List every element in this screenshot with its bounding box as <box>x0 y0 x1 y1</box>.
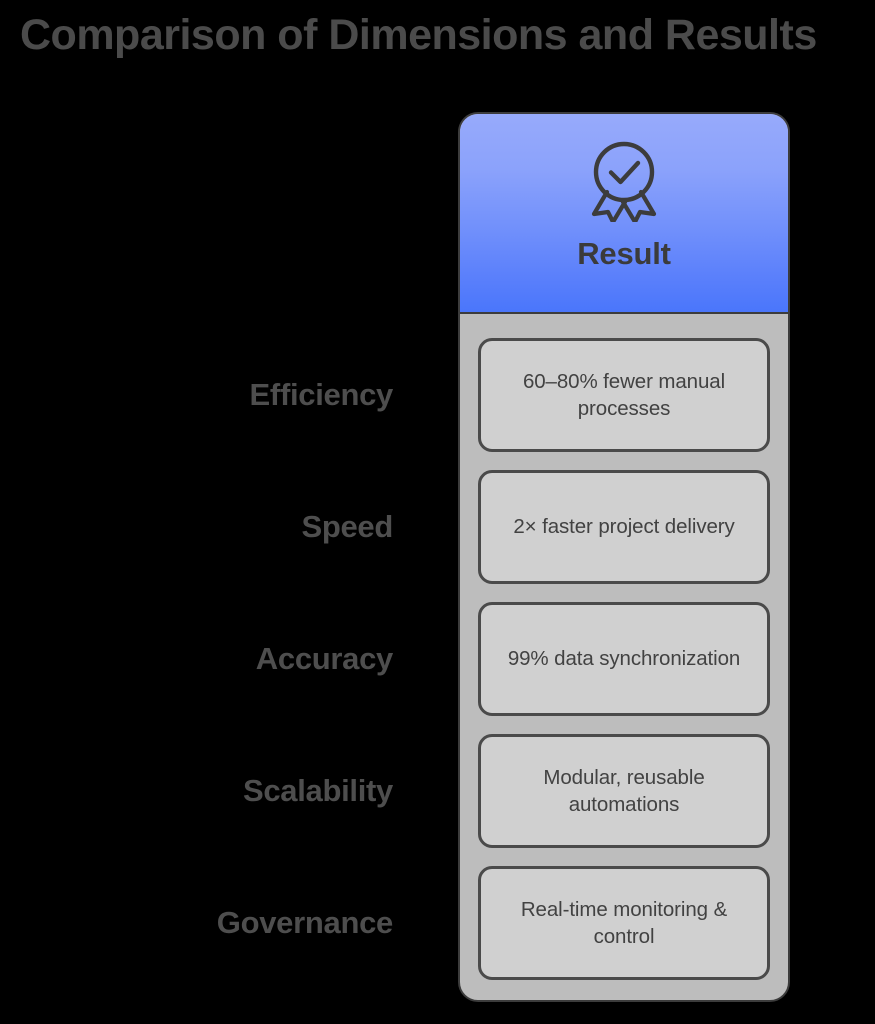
result-card-speed: 2× faster project delivery <box>478 470 770 584</box>
dimension-label-efficiency: Efficiency <box>3 377 393 413</box>
result-panel: Result 60–80% fewer manual processes 2× … <box>458 112 790 1002</box>
dimension-label-scalability: Scalability <box>3 773 393 809</box>
result-card-accuracy: 99% data synchronization <box>478 602 770 716</box>
result-card-scalability: Modular, reusable automations <box>478 734 770 848</box>
page-title: Comparison of Dimensions and Results <box>20 12 865 59</box>
dimension-label-speed: Speed <box>3 509 393 545</box>
dimension-label-governance: Governance <box>3 905 393 941</box>
dimension-label-accuracy: Accuracy <box>3 641 393 677</box>
result-panel-title: Result <box>577 236 671 272</box>
result-card-governance: Real-time monitoring & control <box>478 866 770 980</box>
result-panel-header: Result <box>460 114 788 314</box>
result-card-list: 60–80% fewer manual processes 2× faster … <box>460 314 788 1002</box>
result-card-efficiency: 60–80% fewer manual processes <box>478 338 770 452</box>
comparison-table: Efficiency Speed Accuracy Scalability Go… <box>0 112 875 1002</box>
award-badge-check-icon <box>585 140 663 222</box>
dimension-label-column: Efficiency Speed Accuracy Scalability Go… <box>0 112 400 1002</box>
